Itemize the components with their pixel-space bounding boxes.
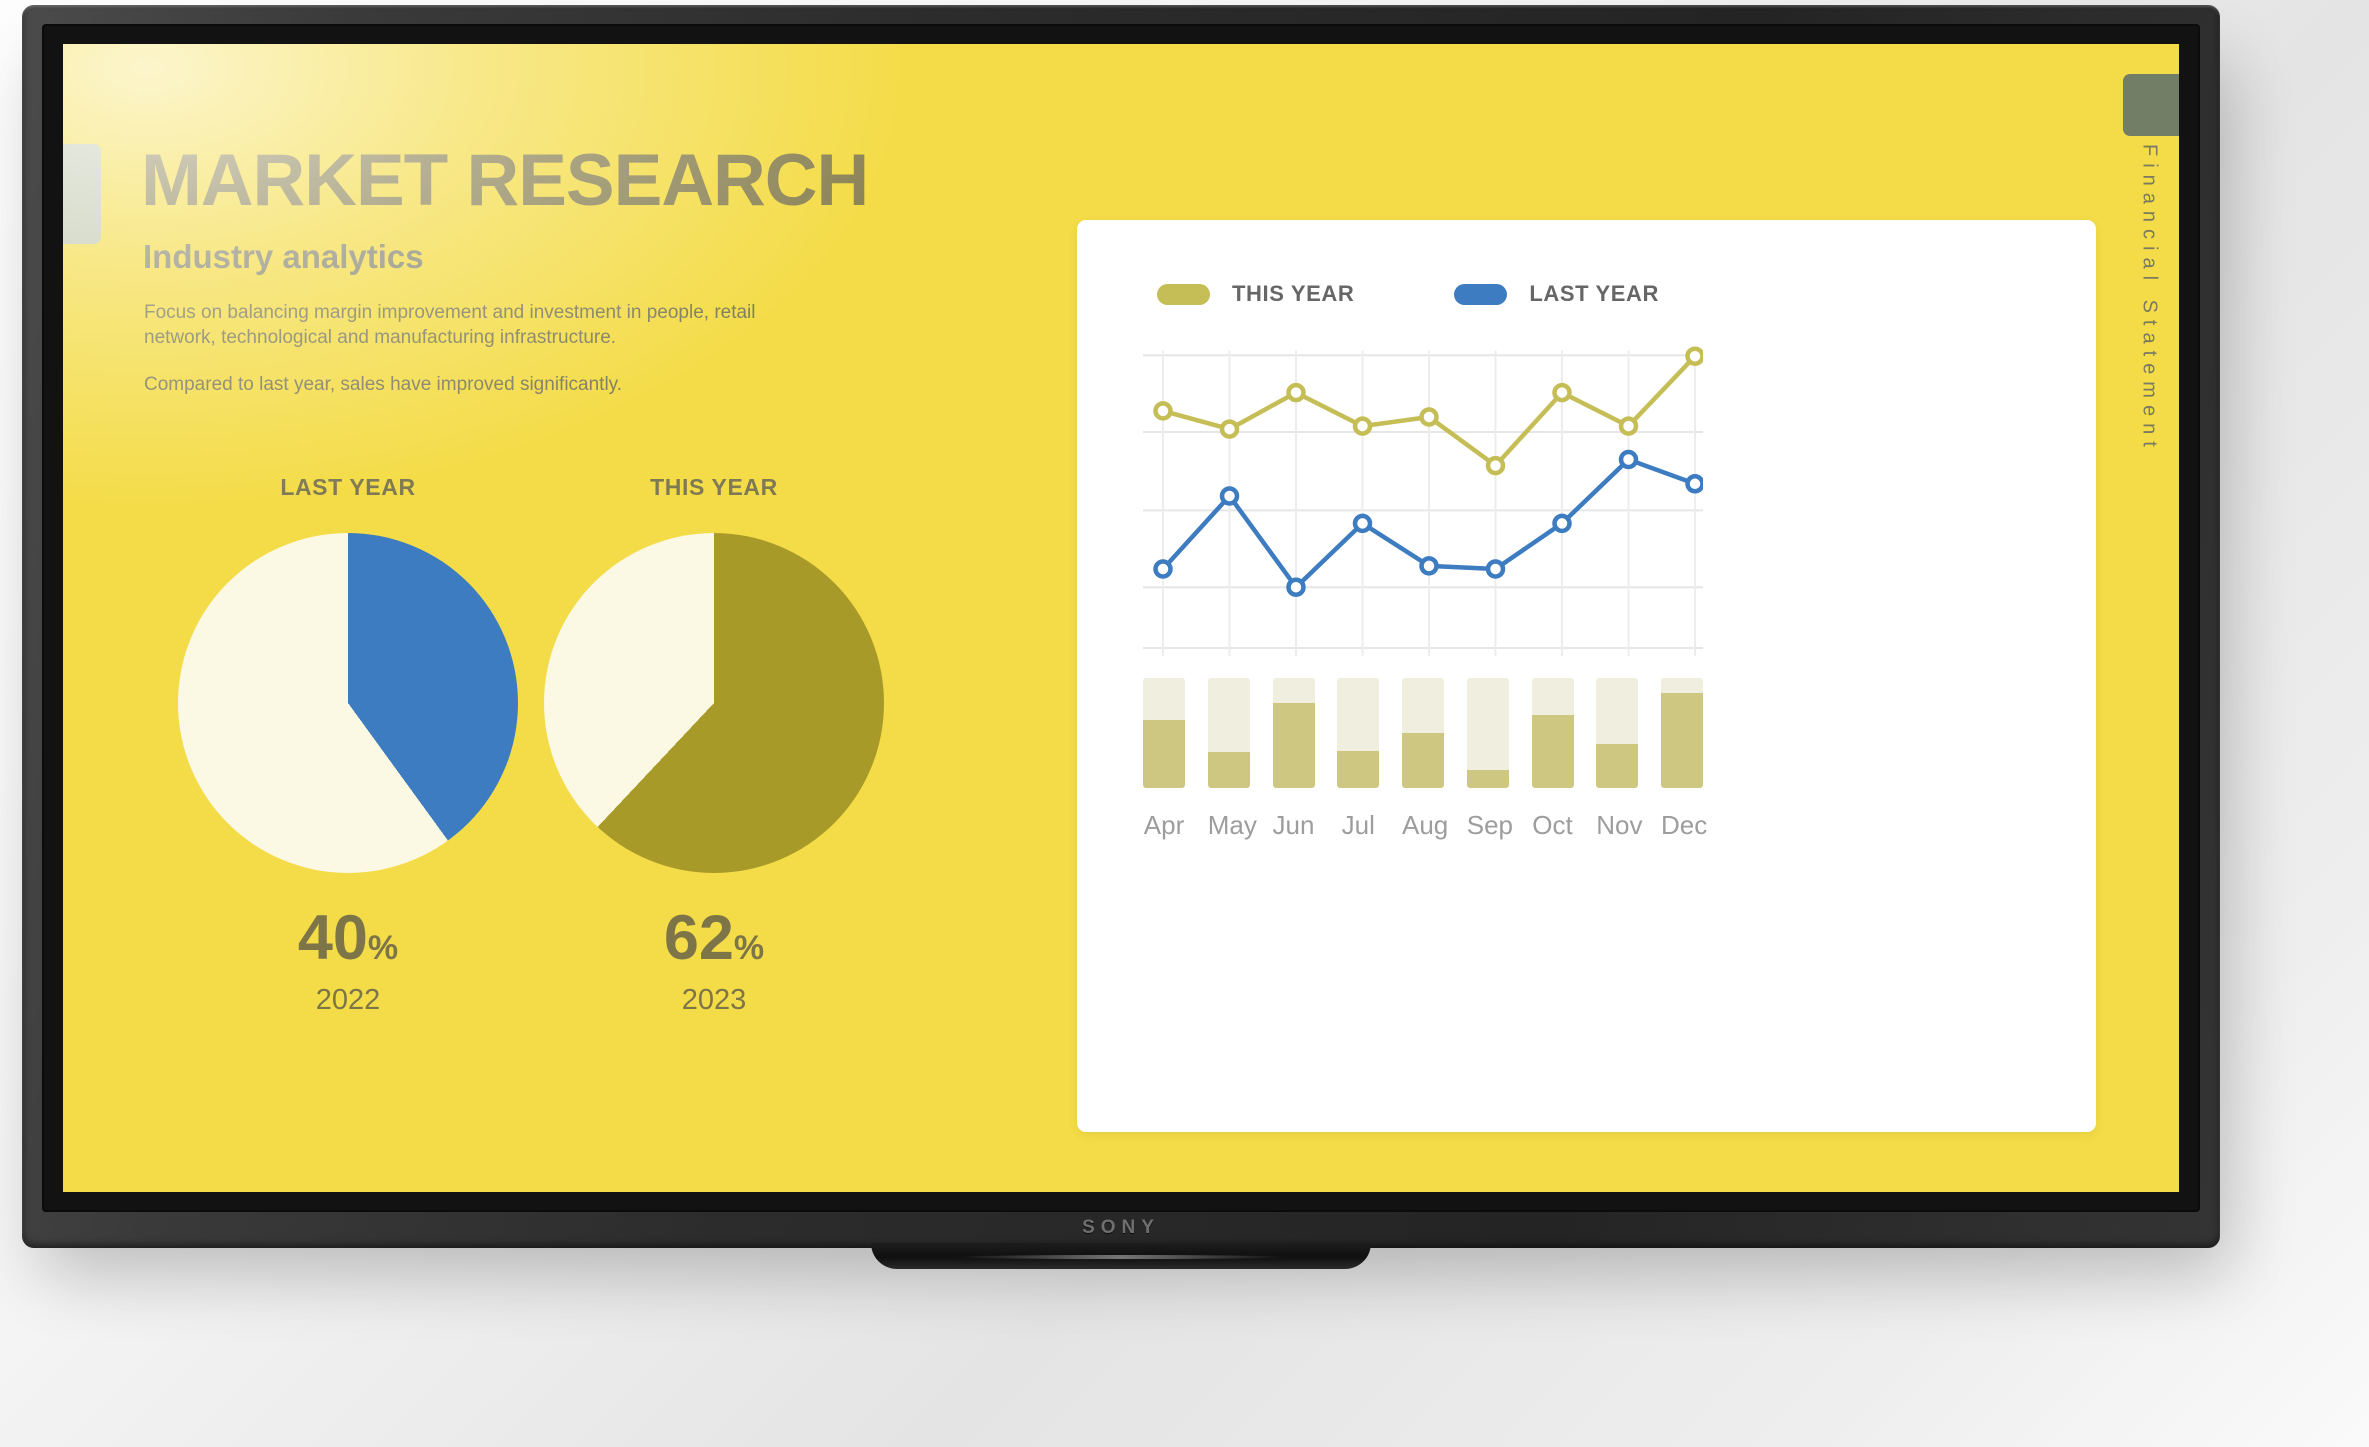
bar-track	[1467, 678, 1509, 788]
x-axis-label: Oct	[1532, 810, 1574, 841]
side-label-text: Financial Statement	[2138, 144, 2161, 454]
page-subtitle: Industry analytics	[143, 238, 1001, 276]
x-axis-label: Apr	[1143, 810, 1185, 841]
decor-rect-right	[2123, 74, 2179, 136]
bar-track	[1402, 678, 1444, 788]
pie-chart-this-year	[544, 533, 884, 873]
page-title: MARKET RESEARCH	[141, 144, 1001, 217]
bar-column	[1143, 678, 1185, 788]
legend-item-this-year[interactable]: THIS YEAR	[1157, 281, 1354, 307]
bar-track	[1661, 678, 1703, 788]
paragraph-one: Focus on balancing margin improvement an…	[144, 300, 824, 350]
pie-year-last-year: 2022	[153, 984, 543, 1017]
x-axis-label: Nov	[1596, 810, 1638, 841]
legend-label: THIS YEAR	[1232, 281, 1354, 307]
tv-stand-highlight	[956, 1255, 1286, 1259]
bar-column	[1337, 678, 1379, 788]
pie-value-number: 62	[664, 903, 734, 973]
pie-chart-last-year	[178, 533, 518, 873]
bar-fill	[1532, 715, 1574, 788]
bar-track	[1532, 678, 1574, 788]
bar-fill	[1273, 703, 1315, 788]
bar-column	[1402, 678, 1444, 788]
bar-fill	[1402, 733, 1444, 788]
television-frame: Financial Statement MARKET RESEARCH Indu…	[22, 5, 2220, 1248]
tv-screen: Financial Statement MARKET RESEARCH Indu…	[63, 44, 2179, 1192]
bar-fill	[1661, 693, 1703, 788]
decor-rect-left	[63, 144, 101, 244]
x-axis-label: Jun	[1273, 810, 1315, 841]
slide-text-block: MARKET RESEARCH Industry analytics Focus…	[141, 144, 1001, 397]
bar-column	[1467, 678, 1509, 788]
legend-item-last-year[interactable]: LAST YEAR	[1454, 281, 1659, 307]
paragraph-two: Compared to last year, sales have improv…	[144, 372, 824, 397]
bar-track	[1596, 678, 1638, 788]
x-axis-label: Aug	[1402, 810, 1444, 841]
pie-value-this-year: 62%	[519, 907, 909, 970]
bar-fill	[1143, 720, 1185, 788]
percent-symbol: %	[368, 929, 398, 967]
pie-year-this-year: 2023	[519, 984, 909, 1017]
legend-swatch-icon	[1454, 284, 1507, 305]
bar-fill	[1467, 770, 1509, 788]
chart-card: THIS YEAR LAST YEAR AprMayJunJulAugSepOc…	[1077, 220, 2096, 1132]
bar-track	[1208, 678, 1250, 788]
x-axis-label: Jul	[1337, 810, 1379, 841]
bar-fill	[1208, 752, 1250, 788]
bar-column	[1661, 678, 1703, 788]
bar-column	[1596, 678, 1638, 788]
bar-column	[1273, 678, 1315, 788]
pie-value-number: 40	[298, 903, 368, 973]
percent-symbol: %	[734, 929, 764, 967]
pie-value-last-year: 40%	[153, 907, 543, 970]
pie-caption: LAST YEAR	[153, 474, 543, 501]
x-axis-label: Dec	[1661, 810, 1703, 841]
bar-fill	[1337, 751, 1379, 788]
bar-track	[1143, 678, 1185, 788]
legend-swatch-icon	[1157, 284, 1210, 305]
chart-legend: THIS YEAR LAST YEAR	[1157, 281, 1659, 307]
bar-fill	[1596, 744, 1638, 788]
bar-track	[1273, 678, 1315, 788]
pie-block-last-year: LAST YEAR 40% 2022	[153, 474, 543, 1017]
brand-logo: SONY	[1082, 1217, 1160, 1239]
bar-chart	[1143, 658, 1703, 788]
side-label: Financial Statement	[2129, 139, 2169, 459]
bar-column	[1208, 678, 1250, 788]
legend-label: LAST YEAR	[1529, 281, 1659, 307]
x-axis-label: Sep	[1467, 810, 1509, 841]
line-chart	[1143, 336, 1703, 656]
pie-block-this-year: THIS YEAR 62% 2023	[519, 474, 909, 1017]
x-axis-label: May	[1208, 810, 1250, 841]
tv-bezel-inner: Financial Statement MARKET RESEARCH Indu…	[42, 24, 2200, 1212]
bar-track	[1337, 678, 1379, 788]
pie-caption: THIS YEAR	[519, 474, 909, 501]
desk-background: Financial Statement MARKET RESEARCH Indu…	[0, 0, 2369, 1447]
bar-chart-x-axis: AprMayJunJulAugSepOctNovDec	[1143, 810, 1703, 841]
bar-column	[1532, 678, 1574, 788]
